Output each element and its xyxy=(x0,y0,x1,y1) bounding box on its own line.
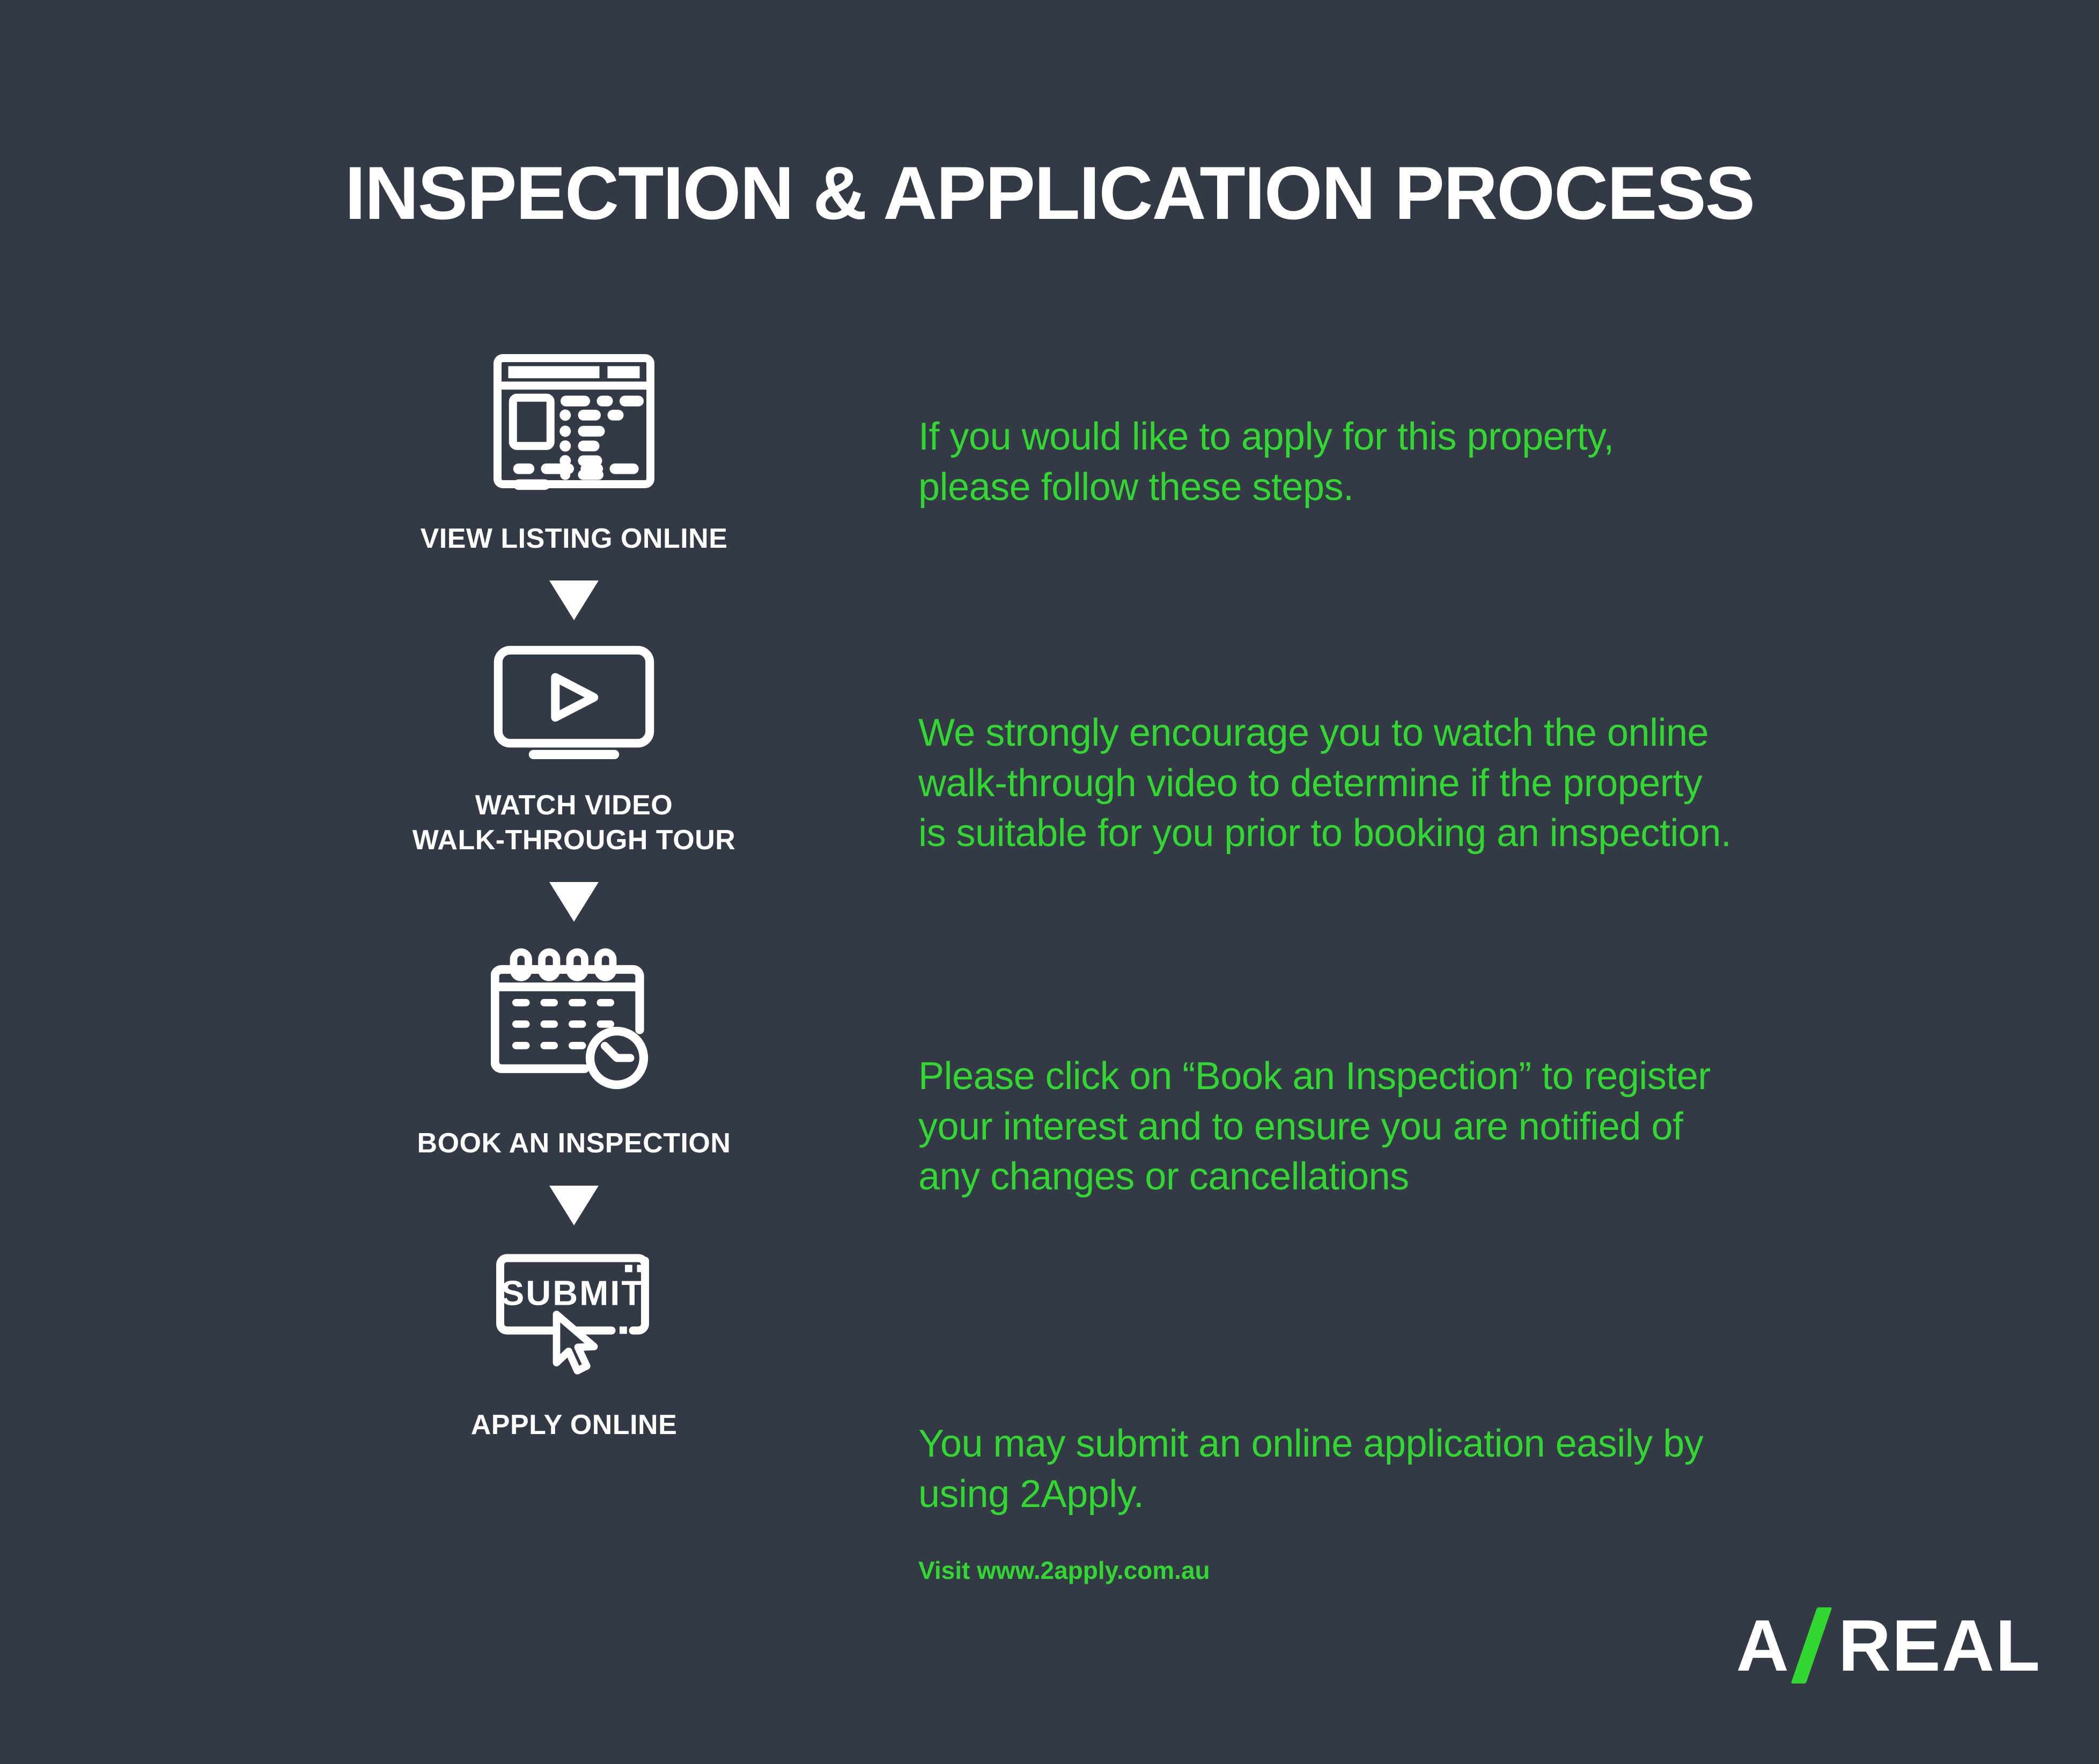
arrow-down-icon xyxy=(549,580,599,620)
step-copy-apply-online: You may submit an online application eas… xyxy=(918,1419,1911,1519)
step-copy-view-listing: If you would like to apply for this prop… xyxy=(918,412,1938,512)
arrow-down-icon xyxy=(549,882,599,922)
areal-logo: A REAL xyxy=(1736,1600,2041,1691)
flow-arrow-3 xyxy=(375,1186,772,1225)
submit-button-cursor-icon: SUBMIT xyxy=(480,1250,668,1384)
logo-letter-a: A xyxy=(1736,1609,1790,1682)
flow-step-label: BOOK AN INSPECTION xyxy=(417,1126,731,1160)
step-copy-watch-video: We strongly encourage you to watch the o… xyxy=(918,708,1938,859)
flow-step-label: WATCH VIDEO WALK-THROUGH TOUR xyxy=(413,788,736,857)
flow-step-book-inspection: BOOK AN INSPECTION xyxy=(375,946,772,1160)
flow-step-label: VIEW LISTING ONLINE xyxy=(421,521,728,556)
logo-word-real: REAL xyxy=(1838,1609,2041,1682)
logo-slash-icon xyxy=(1792,1607,1836,1684)
flow-step-view-listing: VIEW LISTING ONLINE xyxy=(375,354,772,556)
arrow-down-icon xyxy=(549,1186,599,1225)
flow-arrow-2 xyxy=(375,882,772,922)
step-copy-book-inspection: Please click on “Book an Inspection” to … xyxy=(918,1052,1911,1202)
page-title: INSPECTION & APPLICATION PROCESS xyxy=(0,156,2099,231)
submit-icon-text: SUBMIT xyxy=(501,1273,644,1312)
flow-step-watch-video: WATCH VIDEO WALK-THROUGH TOUR xyxy=(375,645,772,857)
flow-step-apply-online: SUBMIT APPLY ONLINE xyxy=(375,1250,772,1442)
flow-arrow-1 xyxy=(375,580,772,620)
visit-2apply-link[interactable]: Visit www.2apply.com.au xyxy=(918,1556,1210,1585)
flow-step-label: APPLY ONLINE xyxy=(471,1408,677,1442)
listing-window-icon-bottom-rows xyxy=(494,461,654,498)
calendar-clock-icon xyxy=(491,946,657,1102)
video-monitor-play-icon xyxy=(492,645,656,765)
process-flow-column: VIEW LISTING ONLINE WATCH VIDEO WALK-THR… xyxy=(375,354,772,1442)
